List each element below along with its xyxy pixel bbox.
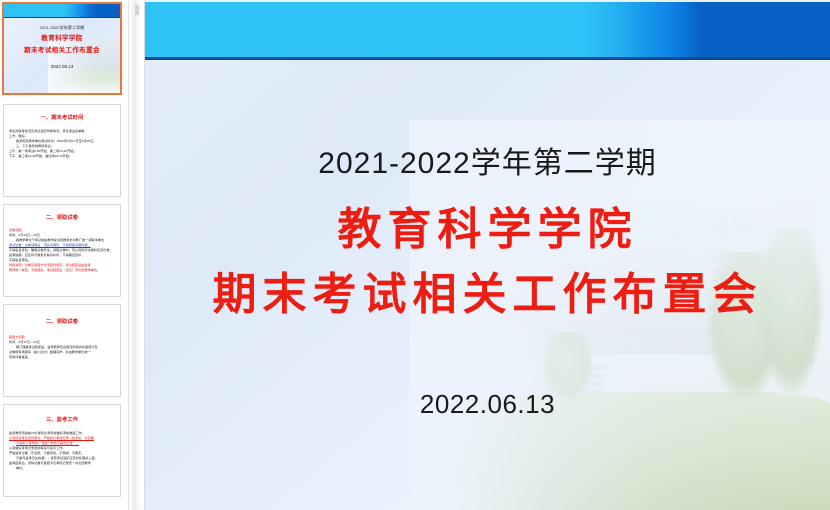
slide-text-block: 2021-2022学年第二学期 教育科学学院 期末考试相关工作布置会 2022.… [145,0,830,510]
mini-subtitle: 2021-2022学年第二学期 [8,26,116,31]
mini-title-line2: 期末考试相关工作布置会 [8,47,116,54]
slide-thumbnail-5-canvas: 三、监考工作 监考教师须提前20分钟到达考场并做好考前准备工作。 认真核对考生身… [4,405,120,496]
mini-body-lines: 学生的缺考情况及考试违纪作弊情况，学生退出名单等 工作，做好。 各学院及教学单位… [9,129,115,159]
mini-line: 安排评卷事宜。 [9,355,115,360]
slide-thumbnail-1-canvas: 2021-2022学年第二学期 教育科学学院 期末考试相关工作布置会 2022.… [4,4,120,93]
mini-date: 2022.06.13 [8,64,116,69]
presentation-window: 2021-2022学年第二学期 教育科学学院 期末考试相关工作布置会 2022.… [0,0,830,510]
mini-body-lines: 试卷领取： 时间：6月14日－16日 各教学单位于考试前由教学秘书到教务处印刷厂… [9,228,115,273]
splitter-grip[interactable] [135,5,139,15]
slide-view[interactable]: 2021-2022学年第二学期 教育科学学院 期末考试相关工作布置会 2022.… [145,0,830,510]
slide-thumbnail-2-canvas: 一、期末考试时间 学生的缺考情况及考试违纪作弊情况，学生退出名单等 工作，做好。… [4,105,120,196]
slide-date: 2022.06.13 [145,389,830,420]
mini-line: 下午：第三场14:00开始，第四场16:20开始。 [9,154,115,159]
mini-title-line1: 教育科学学院 [8,35,116,42]
slide-thumbnail-3-canvas: 二、领取试卷 试卷领取： 时间：6月14日－16日 各教学单位于考试前由教学秘书… [4,205,120,296]
slide-title-line1: 教育科学学院 [145,193,830,257]
slide-title-line2: 期末考试相关工作布置会 [145,258,830,322]
slide-thumbnail-5[interactable]: 三、监考工作 监考教师须提前20分钟到达考场并做好考前准备工作。 认真核对考生身… [3,404,121,497]
slide-thumbnail-2[interactable]: 一、期末考试时间 学生的缺考情况及考试违纪作弊情况，学生退出名单等 工作，做好。… [3,104,121,197]
slide-thumbnail-pane[interactable]: 2021-2022学年第二学期 教育科学学院 期末考试相关工作布置会 2022.… [0,0,128,510]
mini-line: 教师统一收回，不得遗失。考试结束后（当日）须交回教学单位。 [9,268,115,273]
mini-line: 单位。 [9,466,115,471]
slide-subtitle: 2021-2022学年第二学期 [145,138,830,182]
mini-body-lines: 监考教师须提前20分钟到达考场并做好考前准备工作。 认真核对考生身份信息，严格执… [9,431,115,471]
slide-thumbnail-4-canvas: 二、领取试卷 答题卡领取： 时间：6月17日－22日 每门课程考试结束后，监考教… [4,305,120,396]
mini-heading: 二、领取试卷 [4,318,120,325]
slide-thumbnail-1[interactable]: 2021-2022学年第二学期 教育科学学院 期末考试相关工作布置会 2022.… [2,2,122,95]
mini-heading: 一、期末考试时间 [4,114,120,121]
slide-thumbnail-4[interactable]: 二、领取试卷 答题卡领取： 时间：6月17日－22日 每门课程考试结束后，监考教… [3,304,121,397]
slide-thumbnail-3[interactable]: 二、领取试卷 试卷领取： 时间：6月14日－16日 各教学单位于考试前由教学秘书… [3,204,121,297]
mini-heading: 二、领取试卷 [4,214,120,221]
pane-splitter[interactable] [128,0,145,510]
mini-heading: 三、监考工作 [4,416,120,423]
mini-banner [4,4,120,18]
current-slide: 2021-2022学年第二学期 教育科学学院 期末考试相关工作布置会 2022.… [145,0,830,510]
mini-body-lines: 答题卡领取： 时间：6月17日－22日 每门课程考试结束后，监考教师应在规定时间… [9,335,115,360]
